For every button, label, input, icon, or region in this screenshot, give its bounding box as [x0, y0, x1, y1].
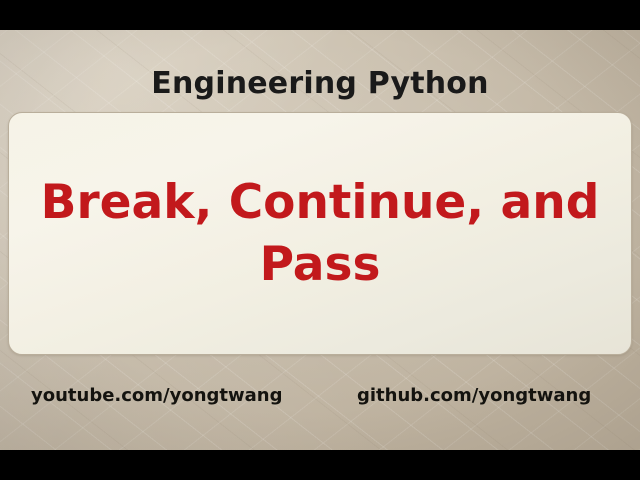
- slide-stage: Engineering Python Break, Continue, and …: [0, 30, 640, 450]
- title-card: Break, Continue, and Pass: [8, 112, 632, 355]
- footer-youtube-link[interactable]: youtube.com/yongtwang: [31, 385, 283, 406]
- slide-frame: Engineering Python Break, Continue, and …: [0, 0, 640, 480]
- series-title: Engineering Python: [0, 66, 640, 101]
- letterbox-bottom-bar: [0, 450, 640, 480]
- footer: youtube.com/yongtwang github.com/yongtwa…: [0, 378, 640, 412]
- slide-title: Break, Continue, and Pass: [35, 172, 605, 294]
- letterbox-top-bar: [0, 0, 640, 30]
- footer-github-link[interactable]: github.com/yongtwang: [357, 385, 591, 406]
